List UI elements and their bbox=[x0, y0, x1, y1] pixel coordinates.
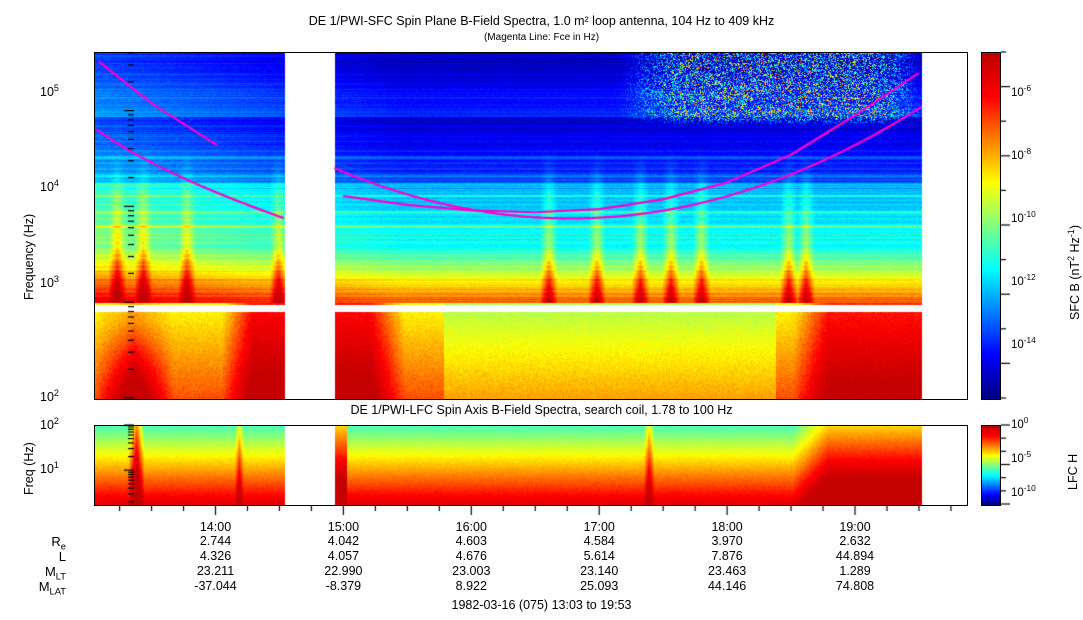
ephemeris-cell: 74.808 bbox=[810, 579, 900, 593]
lfc-ytick-1e1: 101 bbox=[40, 462, 59, 476]
lfc-ytick-1e2: 102 bbox=[40, 418, 59, 432]
ephemeris-cell: 23.463 bbox=[682, 564, 772, 578]
ephemeris-cell: 23.211 bbox=[171, 564, 261, 578]
sfc-yaxis-ticks bbox=[74, 46, 134, 406]
lfc-cbar-tick-1e-10: 10-10 bbox=[1011, 487, 1036, 499]
sfc-ytick-1e5: 105 bbox=[40, 85, 59, 99]
lfc-spectrogram[interactable] bbox=[95, 426, 967, 505]
sfc-cbar-tick-1e-14: 10-14 bbox=[1011, 339, 1036, 351]
xaxis-time-label: 14:00 bbox=[186, 520, 246, 534]
lfc-ylabel: Freq (Hz) bbox=[22, 495, 75, 509]
ephemeris-cell: 25.093 bbox=[554, 579, 644, 593]
lfc-plot-frame[interactable] bbox=[94, 425, 968, 506]
sfc-colorbar-label: SFC B (nT2 Hz-1) bbox=[1068, 320, 1083, 334]
ephemeris-row-label: L bbox=[0, 549, 66, 564]
sfc-cbar-tick-1e-6: 10-6 bbox=[1011, 87, 1031, 99]
sfc-ytick-1e3: 103 bbox=[40, 276, 59, 290]
ephemeris-cell: 4.676 bbox=[426, 549, 516, 563]
sfc-ytick-1e4: 104 bbox=[40, 180, 59, 194]
ephemeris-cell: 2.632 bbox=[810, 534, 900, 548]
sfc-cbar-tick-1e-12: 10-12 bbox=[1011, 276, 1036, 288]
sfc-ytick-1e2: 102 bbox=[40, 390, 59, 404]
ephemeris-cell: 22.990 bbox=[298, 564, 388, 578]
ephemeris-cell: 4.326 bbox=[171, 549, 261, 563]
sfc-cbar-tick-1e-8: 10-8 bbox=[1011, 150, 1031, 162]
sfc-colorbar[interactable] bbox=[981, 52, 1001, 400]
ephemeris-cell: 7.876 bbox=[682, 549, 772, 563]
ephemeris-cell: 8.922 bbox=[426, 579, 516, 593]
ephemeris-cell: 23.003 bbox=[426, 564, 516, 578]
date-range-label: 1982-03-16 (075) 13:03 to 19:53 bbox=[0, 598, 1083, 612]
xaxis-time-label: 19:00 bbox=[825, 520, 885, 534]
ephemeris-cell: 23.140 bbox=[554, 564, 644, 578]
ephemeris-cell: -8.379 bbox=[298, 579, 388, 593]
ephemeris-row-label: Re bbox=[0, 534, 66, 549]
xaxis-time-label: 15:00 bbox=[313, 520, 373, 534]
sfc-cbar-tick-1e-10: 10-10 bbox=[1011, 213, 1036, 225]
sfc-panel-title: DE 1/PWI-SFC Spin Plane B-Field Spectra,… bbox=[0, 14, 1083, 28]
lfc-cbar-tick-1e-5: 10-5 bbox=[1011, 453, 1031, 465]
lfc-cbar-tick-1e0: 100 bbox=[1011, 419, 1028, 431]
ephemeris-row-label: MLAT bbox=[0, 579, 66, 594]
sfc-spectrogram[interactable] bbox=[95, 53, 967, 399]
ephemeris-cell: 4.057 bbox=[298, 549, 388, 563]
xaxis-time-labels: 14:0015:0016:0017:0018:0019:00 bbox=[0, 520, 1083, 536]
xaxis-time-label: 17:00 bbox=[569, 520, 629, 534]
ephemeris-cell: 44.146 bbox=[682, 579, 772, 593]
ephemeris-cell: 4.584 bbox=[554, 534, 644, 548]
sfc-colorbar-ticks bbox=[1001, 46, 1017, 406]
ephemeris-cell: 3.970 bbox=[682, 534, 772, 548]
lfc-panel-title: DE 1/PWI-LFC Spin Axis B-Field Spectra, … bbox=[0, 403, 1083, 417]
ephemeris-cell: 4.042 bbox=[298, 534, 388, 548]
ephemeris-cell: 1.289 bbox=[810, 564, 900, 578]
xaxis-ticks bbox=[80, 506, 980, 520]
lfc-colorbar-label: LFC H bbox=[1066, 490, 1083, 504]
lfc-yaxis-ticks bbox=[74, 421, 134, 511]
ephemeris-cell: 44.894 bbox=[810, 549, 900, 563]
sfc-panel-subtitle: (Magenta Line: Fce in Hz) bbox=[0, 32, 1083, 43]
xaxis-time-label: 18:00 bbox=[697, 520, 757, 534]
xaxis-time-label: 16:00 bbox=[441, 520, 501, 534]
ephemeris-row-label: MLT bbox=[0, 564, 66, 579]
ephemeris-cell: 4.603 bbox=[426, 534, 516, 548]
ephemeris-cell: 5.614 bbox=[554, 549, 644, 563]
ephemeris-cell: -37.044 bbox=[171, 579, 261, 593]
lfc-colorbar[interactable] bbox=[981, 425, 1001, 506]
ephemeris-cell: 2.744 bbox=[171, 534, 261, 548]
sfc-plot-frame[interactable] bbox=[94, 52, 968, 400]
